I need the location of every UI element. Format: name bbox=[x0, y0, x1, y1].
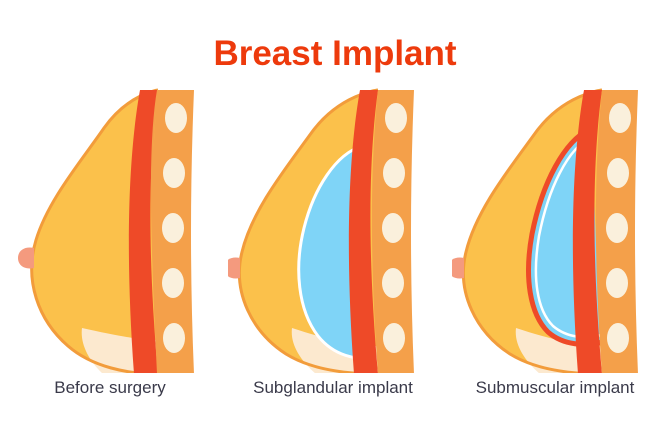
nipple bbox=[18, 248, 34, 269]
breast-cross-section-subglandular bbox=[228, 88, 438, 373]
caption-submuscular: Submuscular implant bbox=[440, 378, 670, 398]
diagram-page: Breast Implant bbox=[0, 0, 670, 445]
breast-cross-section-submuscular bbox=[452, 88, 662, 373]
panel-subglandular bbox=[228, 88, 438, 373]
nipple bbox=[452, 258, 464, 279]
caption-subglandular: Subglandular implant bbox=[218, 378, 448, 398]
breast-cross-section-before bbox=[8, 88, 218, 373]
panel-before-surgery bbox=[8, 88, 218, 373]
panel-submuscular bbox=[452, 88, 662, 373]
nipple bbox=[228, 258, 240, 279]
page-title: Breast Implant bbox=[0, 34, 670, 74]
caption-before-surgery: Before surgery bbox=[0, 378, 225, 398]
